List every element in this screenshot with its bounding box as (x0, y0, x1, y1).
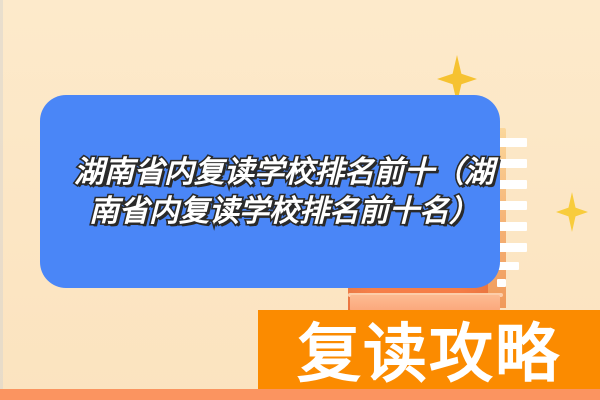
book-flat-lying (350, 295, 500, 311)
headline-text-wrapper: 湖南省内复读学校排名前十（湖南省内复读学校排名前十名） (40, 95, 526, 288)
page-title: 湖南省内复读学校排名前十（湖南省内复读学校排名前十名） (64, 153, 504, 231)
bottom-accent-strip (0, 389, 600, 400)
poster-canvas: 湖南省内复读学校排名前十（湖南省内复读学校排名前十名） 复读攻略 (0, 0, 600, 400)
category-banner-label: 复读攻略 (258, 310, 600, 400)
